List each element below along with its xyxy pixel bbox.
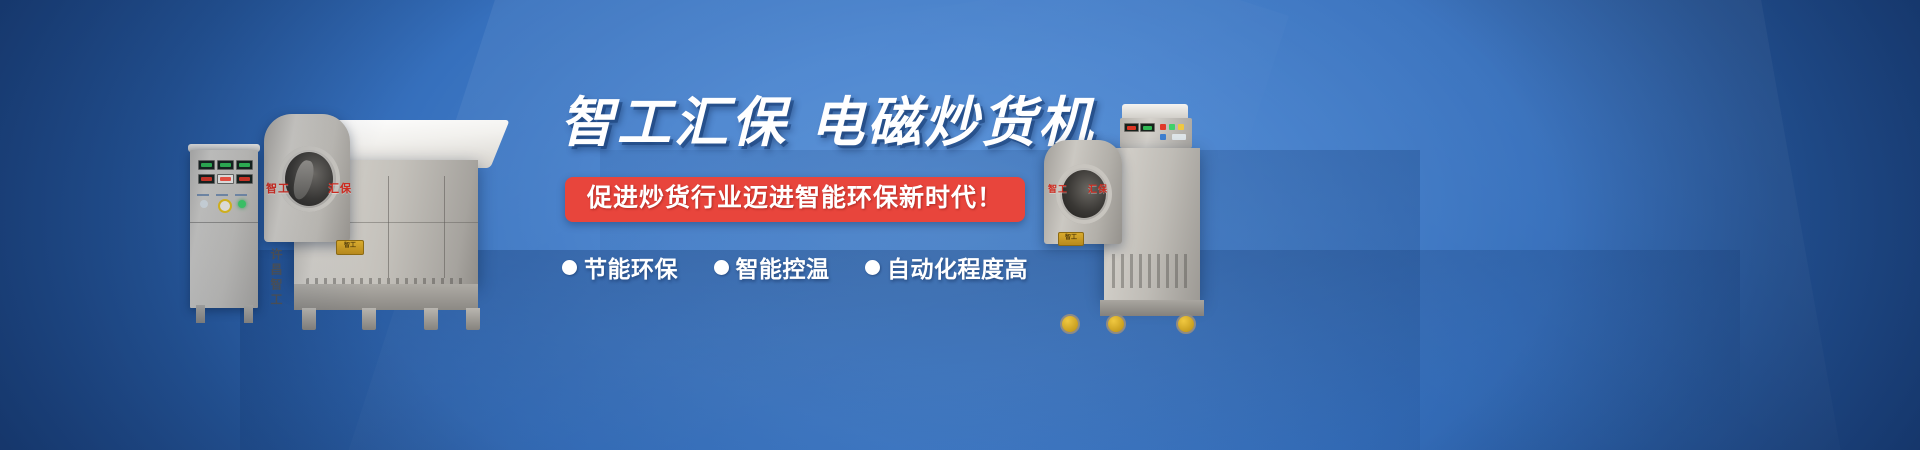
background-vignette (0, 0, 1920, 450)
product-hero-banner: 智工 汇保 智工 许昌智工 智工汇保电磁炒货机 促进炒货行业迈进智能环保新时代！ (0, 0, 1920, 450)
